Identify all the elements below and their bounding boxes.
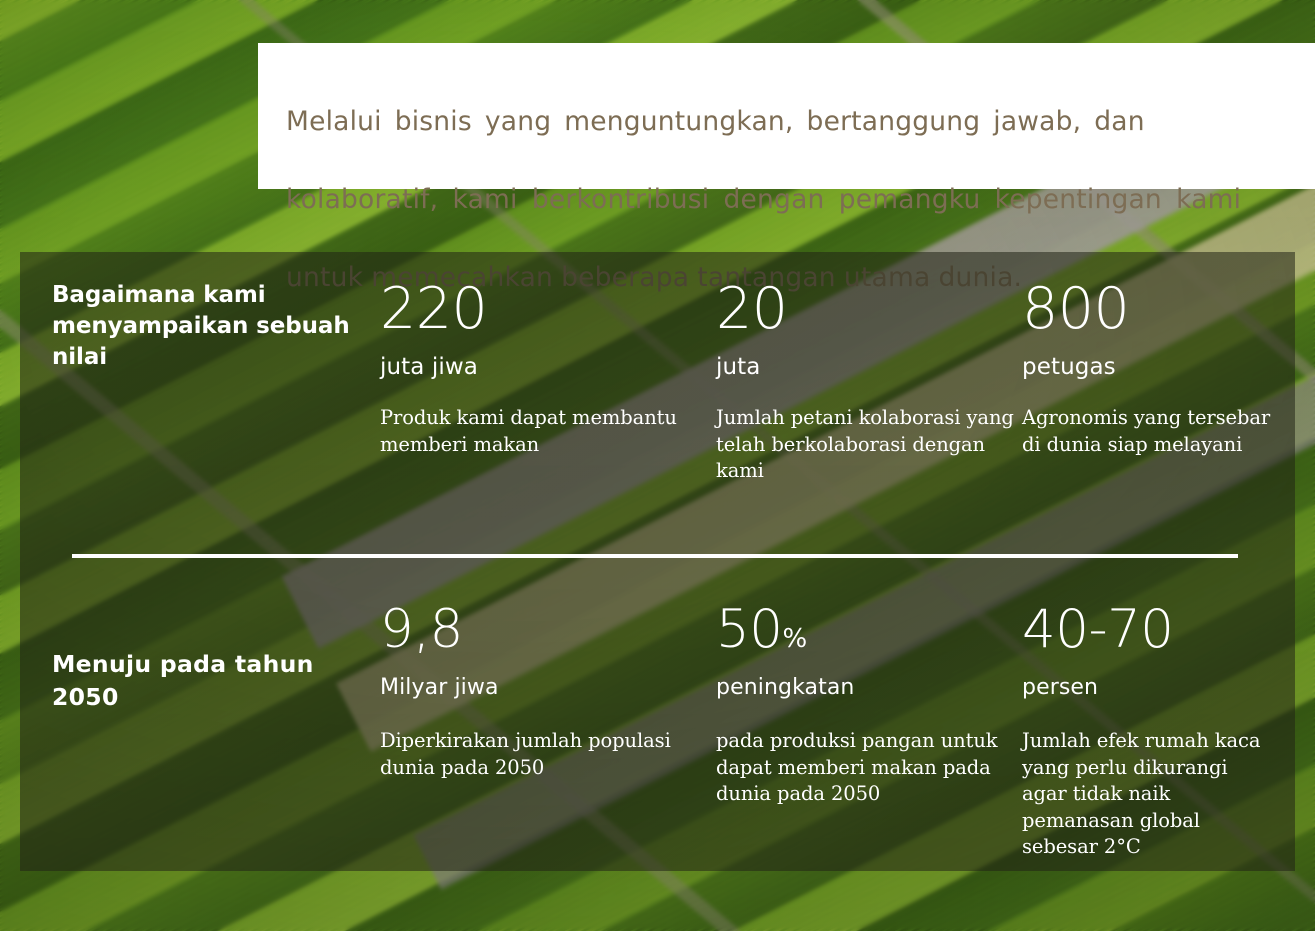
stat-description: Jumlah efek rumah kaca yang perlu dikura… [1022,702,1272,861]
stat-value: 9,8 [380,602,716,667]
stat-number: 800 [1022,276,1129,342]
headline-card: Melalui bisnis yang menguntungkan, berta… [258,43,1315,189]
stat-unit: Milyar jiwa [380,667,716,702]
infographic-page: Melalui bisnis yang menguntungkan, berta… [0,0,1315,931]
stats-section-towards-2050: Menuju pada tahun 2050 9,8 Milyar jiwa D… [20,602,1295,861]
stat-item: 220 juta jiwa Produk kami dapat membantu… [380,280,716,485]
stat-unit: peningkatan [716,667,1022,702]
stat-number: 50 [716,599,782,660]
section-label: Menuju pada tahun 2050 [52,602,380,714]
stat-value: 800 [1022,280,1272,347]
section-divider [72,554,1238,558]
stat-item: 40-70 persen Jumlah efek rumah kaca yang… [1022,602,1272,861]
stat-number: 220 [380,276,487,342]
stat-description: Jumlah petani kolaborasi yang telah berk… [716,381,1022,485]
stat-unit: petugas [1022,347,1272,381]
stat-description: Diperkirakan jumlah populasi dunia pada … [380,702,716,781]
section-label-block: Bagaimana kami menyampaikan sebuah nilai [20,280,380,485]
stat-item: 9,8 Milyar jiwa Diperkirakan jumlah popu… [380,602,716,861]
stat-unit: juta [716,347,1022,381]
stat-description: Agronomis yang tersebar di dunia siap me… [1022,381,1272,458]
stat-value: 40-70 [1022,602,1272,667]
stat-value: 50% [716,602,1022,667]
stat-unit: persen [1022,667,1272,702]
stat-item: 20 juta Jumlah petani kolaborasi yang te… [716,280,1022,485]
section-label: Bagaimana kami menyampaikan sebuah nilai [52,280,380,373]
stat-value: 20 [716,280,1022,347]
stat-number: 20 [716,276,788,342]
headline-line-2: kolaboratif, kami berkontribusi dengan p… [286,180,1289,219]
stat-unit: juta jiwa [380,347,716,381]
stat-value: 220 [380,280,716,347]
stat-number: 9,8 [380,599,463,660]
stat-number: 40-70 [1022,599,1174,660]
stat-description: pada produksi pangan untuk dapat memberi… [716,702,1022,808]
stats-overlay-panel: Bagaimana kami menyampaikan sebuah nilai… [20,252,1295,871]
stat-suffix: % [782,624,807,654]
stats-section-how-we-deliver-value: Bagaimana kami menyampaikan sebuah nilai… [20,280,1295,485]
headline-line-1: Melalui bisnis yang menguntungkan, berta… [286,102,1289,141]
stat-item: 800 petugas Agronomis yang tersebar di d… [1022,280,1272,485]
section-label-block: Menuju pada tahun 2050 [20,602,380,861]
stat-item: 50% peningkatan pada produksi pangan unt… [716,602,1022,861]
stat-description: Produk kami dapat membantu memberi makan [380,381,716,458]
